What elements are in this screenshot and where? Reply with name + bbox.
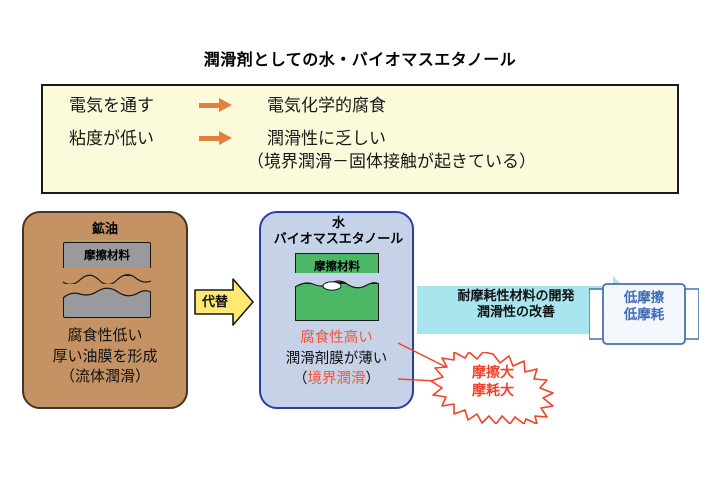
water-line-corrosive: 腐食性高い xyxy=(261,328,412,349)
panel-mineral-body: 腐食性低い 厚い油膜を形成 （流体潤滑） xyxy=(24,325,186,387)
result-line-1: 低摩擦 xyxy=(605,290,683,307)
water-material-label: 摩擦材料 xyxy=(295,258,379,274)
water-paren-close: ） xyxy=(366,371,381,387)
substitute-arrow-label: 代替 xyxy=(193,291,237,310)
note-subtext-2: （境界潤滑－固体接触が起きている） xyxy=(247,152,536,172)
note-row: 電気を通す 電気化学的腐食 xyxy=(69,95,386,118)
starburst-line-1: 摩擦大 xyxy=(429,365,557,383)
arrow-right-icon xyxy=(193,97,239,120)
panel-mineral-title: 鉱油 xyxy=(24,218,186,237)
result-ribbon-text: 低摩擦 低摩耗 xyxy=(605,290,683,324)
note-cause-2: 粘度が低い xyxy=(69,128,193,151)
panel-water-title-line1: 水 xyxy=(247,216,430,232)
slide-canvas: 潤滑剤としての水・バイオマスエタノール 電気を通す 電気化学的腐食 粘度が低い … xyxy=(0,0,720,480)
improvement-line-2: 潤滑性の改善 xyxy=(425,305,607,321)
water-paren-open: （ xyxy=(293,371,308,387)
improvement-line-1: 耐摩耗性材料の開発 xyxy=(425,289,607,305)
page-title: 潤滑剤としての水・バイオマスエタノール xyxy=(0,46,720,70)
water-contact-illustration: 摩擦材料 xyxy=(295,253,379,321)
mineral-line-3: （流体潤滑） xyxy=(24,366,186,387)
water-line-boundary: （境界潤滑） xyxy=(261,369,412,390)
note-box: 電気を通す 電気化学的腐食 粘度が低い 潤滑性に乏しい （境界潤滑－固体接触が起… xyxy=(41,84,679,194)
water-boundary-term: 境界潤滑 xyxy=(308,371,366,387)
note-cause-1: 電気を通す xyxy=(69,95,193,118)
water-line-thin-film: 潤滑剤膜が薄い xyxy=(261,349,412,370)
mineral-contact-illustration: 摩擦材料 xyxy=(63,242,151,318)
arrow-right-icon xyxy=(193,130,239,153)
note-effect-2: 潤滑性に乏しい xyxy=(267,129,386,149)
starburst-line-2: 摩耗大 xyxy=(429,383,557,401)
panel-water-title: 水 バイオマスエタノール xyxy=(247,216,430,248)
result-line-2: 低摩耗 xyxy=(605,307,683,324)
mineral-material-label: 摩擦材料 xyxy=(63,247,151,263)
panel-mineral-oil: 鉱油 摩擦材料 腐食性低い 厚い油膜を形成 （流体潤滑） xyxy=(22,211,188,409)
panel-water-bioethanol: 水 バイオマスエタノール 摩擦材料 腐食性高い 潤滑剤膜が薄い （境界潤滑） xyxy=(259,211,414,409)
mineral-line-2: 厚い油膜を形成 xyxy=(24,346,186,367)
mineral-line-1: 腐食性低い xyxy=(24,325,186,346)
substitute-arrow: 代替 xyxy=(193,276,255,328)
note-effect-1: 電気化学的腐食 xyxy=(267,95,386,118)
note-row: 粘度が低い 潤滑性に乏しい （境界潤滑－固体接触が起きている） xyxy=(69,128,536,174)
starburst-text: 摩擦大 摩耗大 xyxy=(429,365,557,400)
panel-water-title-line2: バイオマスエタノール xyxy=(247,232,430,248)
improvement-arrow-label: 耐摩耗性材料の開発 潤滑性の改善 xyxy=(425,289,607,322)
panel-water-body: 腐食性高い 潤滑剤膜が薄い （境界潤滑） xyxy=(261,328,412,390)
